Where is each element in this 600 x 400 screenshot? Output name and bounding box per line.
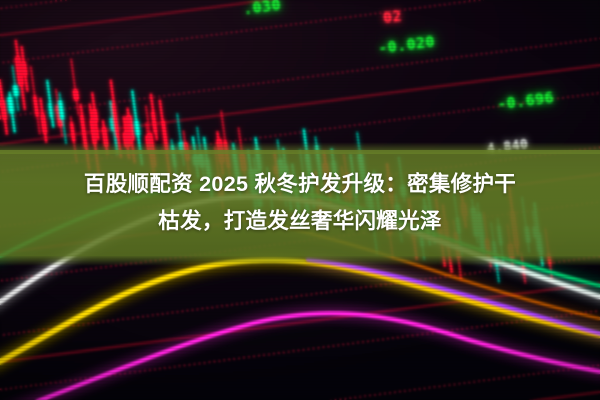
page-title-line-1: 百股顺配资 2025 秋冬护发升级：密集修护干 xyxy=(22,166,578,203)
price-label: 02 xyxy=(382,7,403,27)
price-label: .030 xyxy=(242,0,282,18)
title-band-fade-bottom xyxy=(0,256,600,266)
screenshot-root: .03002-0.020-0.6964.840 百股顺配资 2025 秋冬护发升… xyxy=(0,0,600,400)
page-title: 百股顺配资 2025 秋冬护发升级：密集修护干 枯发，打造发丝奢华闪耀光泽 xyxy=(22,166,578,240)
title-band: 百股顺配资 2025 秋冬护发升级：密集修护干 枯发，打造发丝奢华闪耀光泽 xyxy=(0,150,600,256)
page-title-line-2: 枯发，打造发丝奢华闪耀光泽 xyxy=(22,203,578,240)
price-label: -0.020 xyxy=(377,32,436,57)
price-label: -0.696 xyxy=(496,88,555,113)
